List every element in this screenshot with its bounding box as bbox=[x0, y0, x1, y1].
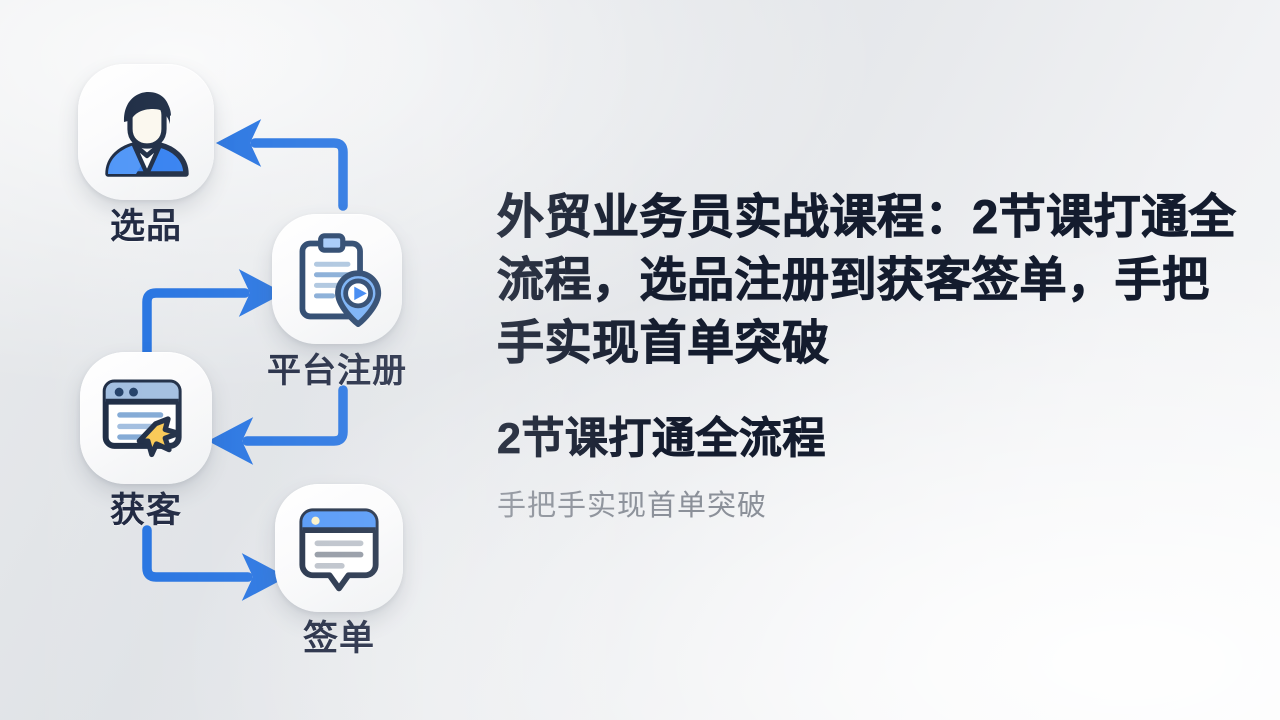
flow-node-tile bbox=[78, 64, 214, 200]
copy-block: 外贸业务员实战课程：2节课打通全流程，选品注册到获客签单，手把手实现首单突破 2… bbox=[497, 185, 1253, 526]
businessman-avatar-icon bbox=[96, 82, 196, 182]
flow-node-label: 选品 bbox=[78, 204, 214, 250]
arrow-pingtai-to-huoke bbox=[247, 390, 343, 441]
flow-node-tile bbox=[272, 214, 402, 344]
flow-diagram: 选品 bbox=[0, 0, 470, 720]
arrow-pingtai-to-xuanpin bbox=[255, 143, 343, 206]
caption: 手把手实现首单突破 bbox=[497, 468, 1253, 526]
flow-node-huoke[interactable]: 获客 bbox=[80, 352, 212, 534]
flow-node-tile bbox=[80, 352, 212, 484]
clipboard-location-pin-icon bbox=[289, 231, 385, 327]
subheadline: 2节课打通全流程 bbox=[497, 374, 1253, 468]
chat-bubble-document-icon bbox=[292, 501, 386, 595]
flow-node-xuanpin[interactable]: 选品 bbox=[78, 64, 214, 250]
flow-node-label: 获客 bbox=[80, 488, 212, 534]
browser-window-hand-cursor-icon bbox=[98, 370, 194, 466]
promo-canvas: 选品 bbox=[0, 0, 1280, 720]
arrow-huoke-to-qiandan bbox=[147, 530, 248, 577]
flow-node-pingtai[interactable]: 平台注册 bbox=[272, 214, 437, 394]
flow-node-label: 签单 bbox=[275, 616, 403, 662]
headline: 外贸业务员实战课程：2节课打通全流程，选品注册到获客签单，手把手实现首单突破 bbox=[497, 185, 1253, 374]
arrow-huoke-to-pingtai bbox=[147, 293, 245, 352]
flow-node-qiandan[interactable]: 签单 bbox=[275, 484, 403, 662]
flow-node-label: 平台注册 bbox=[237, 348, 437, 394]
flow-node-tile bbox=[275, 484, 403, 612]
